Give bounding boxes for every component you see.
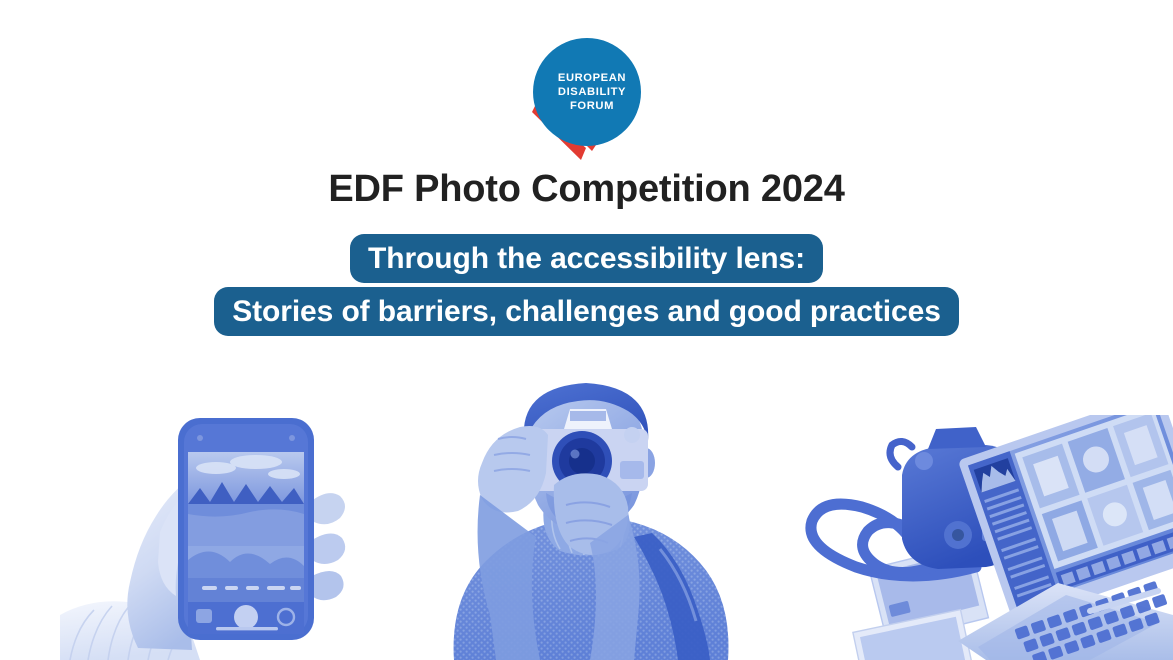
logo-blue-circle bbox=[533, 38, 641, 146]
phone-screen bbox=[188, 452, 304, 602]
photo-man-with-camera bbox=[420, 365, 760, 660]
poster-canvas: EUROPEAN DISABILITY FORUM EDF Photo Comp… bbox=[0, 0, 1173, 660]
sensor-icon bbox=[289, 435, 295, 441]
page-title: EDF Photo Competition 2024 bbox=[0, 166, 1173, 212]
mode-dial bbox=[915, 452, 933, 470]
banner-subtitle: Through the accessibility lens: Stories … bbox=[0, 236, 1173, 340]
banner-row-1: Through the accessibility lens: bbox=[0, 236, 1173, 287]
banner-row-2: Stories of barriers, challenges and good… bbox=[0, 289, 1173, 340]
edf-logo: EUROPEAN DISABILITY FORUM bbox=[528, 38, 646, 160]
banner-line-1: Through the accessibility lens: bbox=[350, 234, 823, 283]
camera-brand-plate bbox=[570, 411, 606, 421]
shutter-button bbox=[234, 605, 258, 629]
gallery-thumbnail bbox=[196, 609, 212, 623]
banner-line-2: Stories of barriers, challenges and good… bbox=[214, 287, 959, 336]
fingertips bbox=[310, 493, 345, 600]
photo-hand-smartphone bbox=[60, 410, 400, 660]
photo-strip bbox=[0, 360, 1173, 660]
front-camera-icon bbox=[197, 435, 203, 441]
smartphone-shape bbox=[178, 418, 314, 640]
shutter-dial bbox=[624, 427, 640, 443]
logo-container: EUROPEAN DISABILITY FORUM bbox=[0, 38, 1173, 160]
photo-camera-laptop bbox=[790, 415, 1173, 660]
laptop bbox=[958, 415, 1173, 660]
